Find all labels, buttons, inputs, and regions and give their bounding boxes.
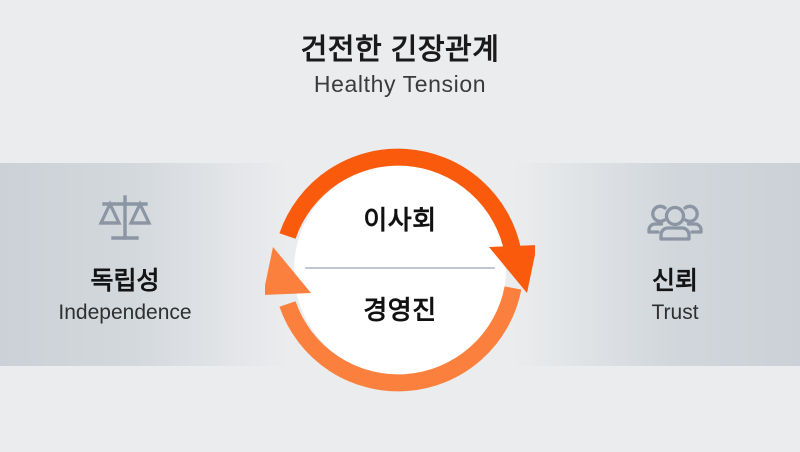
people-group-icon [560,190,790,248]
pillar-trust-label-english: Trust [560,301,790,325]
governance-cycle-graphic [265,135,535,405]
page-title-korean: 건전한 긴장관계 [0,34,800,67]
diagram-title-block: 건전한 긴장관계 Healthy Tension [0,34,800,99]
page-title-english: Healthy Tension [0,71,800,99]
diagram-canvas: 건전한 긴장관계 Healthy Tension [0,0,800,452]
balance-scale-icon [10,190,240,248]
pillar-trust: 신뢰 Trust [560,190,790,325]
pillar-independence: 독립성 Independence [10,190,240,325]
pillar-independence-label-korean: 독립성 [10,268,240,296]
pillar-independence-label-english: Independence [10,301,240,325]
pillar-trust-label-korean: 신뢰 [560,268,790,296]
